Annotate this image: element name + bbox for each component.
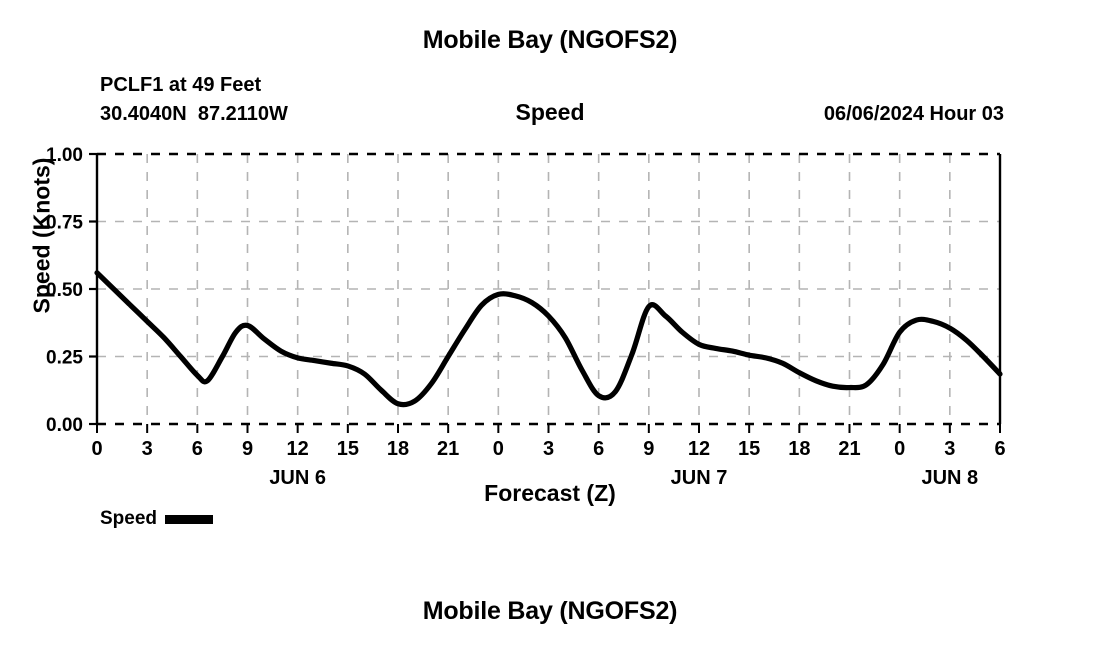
svg-text:12: 12 bbox=[688, 438, 710, 460]
x-tick-labels: 036912151821036912151821036 bbox=[91, 438, 1005, 460]
svg-text:6: 6 bbox=[192, 438, 203, 460]
svg-text:0: 0 bbox=[493, 438, 504, 460]
svg-text:3: 3 bbox=[543, 438, 554, 460]
svg-text:21: 21 bbox=[437, 438, 459, 460]
y-axis-title: Speed (Knots) bbox=[29, 126, 56, 346]
svg-text:3: 3 bbox=[944, 438, 955, 460]
svg-text:9: 9 bbox=[242, 438, 253, 460]
svg-text:12: 12 bbox=[287, 438, 309, 460]
legend: Speed bbox=[100, 508, 213, 530]
svg-text:3: 3 bbox=[142, 438, 153, 460]
svg-text:6: 6 bbox=[994, 438, 1005, 460]
legend-label-speed: Speed bbox=[100, 508, 157, 530]
svg-text:0.00: 0.00 bbox=[46, 415, 83, 436]
svg-text:18: 18 bbox=[387, 438, 409, 460]
tick-marks bbox=[89, 154, 1000, 433]
svg-text:18: 18 bbox=[788, 438, 810, 460]
page-title-bottom: Mobile Bay (NGOFS2) bbox=[0, 597, 1100, 626]
svg-text:0: 0 bbox=[894, 438, 905, 460]
chart-page: Mobile Bay (NGOFS2) PCLF1 at 49 Feet 30.… bbox=[0, 0, 1100, 650]
svg-text:6: 6 bbox=[593, 438, 604, 460]
legend-swatch-speed bbox=[165, 515, 213, 524]
svg-text:0.25: 0.25 bbox=[46, 348, 83, 369]
svg-text:0: 0 bbox=[91, 438, 102, 460]
svg-text:15: 15 bbox=[337, 438, 359, 460]
svg-text:15: 15 bbox=[738, 438, 760, 460]
svg-text:9: 9 bbox=[643, 438, 654, 460]
svg-text:21: 21 bbox=[838, 438, 860, 460]
plot-area: 0.000.250.500.751.00 0369121518210369121… bbox=[0, 0, 1100, 650]
x-axis-title: Forecast (Z) bbox=[0, 480, 1100, 507]
speed-line-chart: 0.000.250.500.751.00 0369121518210369121… bbox=[0, 0, 1100, 650]
